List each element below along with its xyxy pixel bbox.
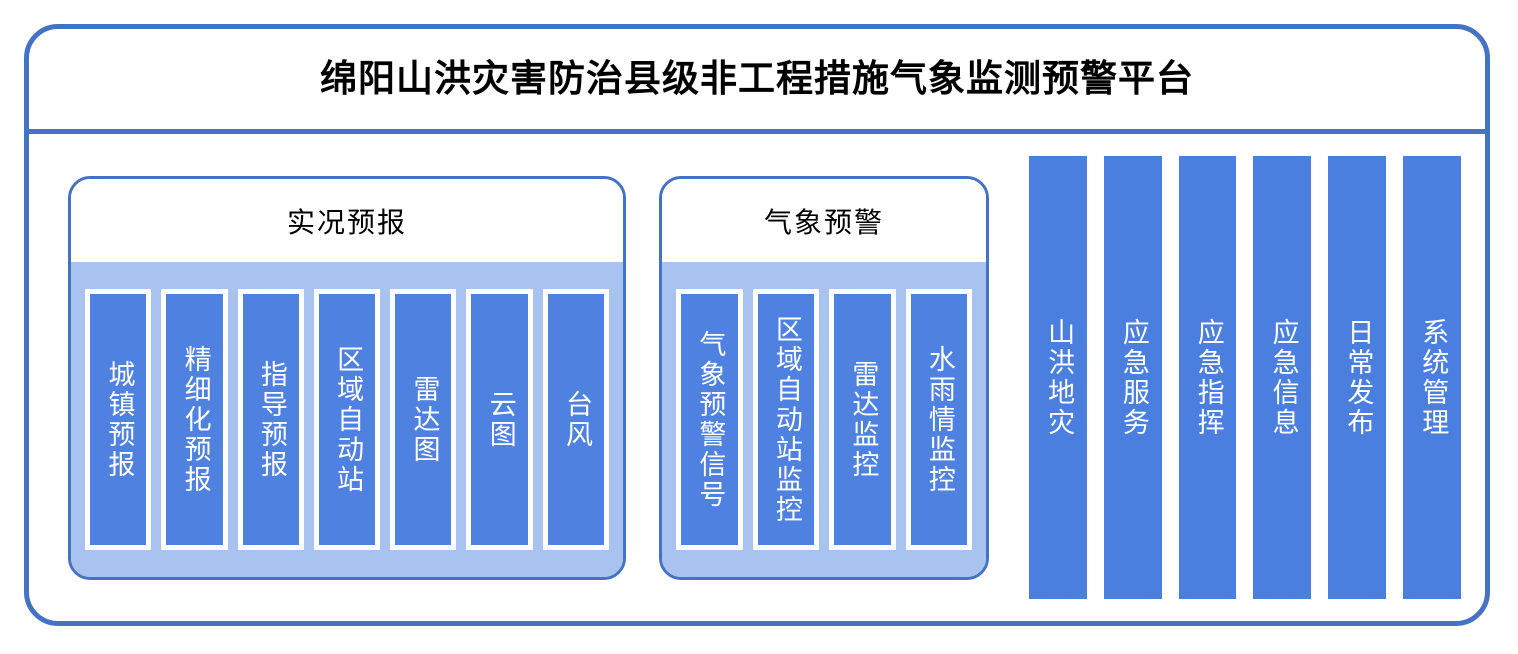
page-title: 绵阳山洪灾害防治县级非工程措施气象监测预警平台 bbox=[320, 59, 1194, 100]
module-item-taifeng[interactable]: 台风 bbox=[543, 289, 609, 550]
module-group-weather-warning[interactable]: 气象预警 气象预警信号 区域自动站监控 雷达监控 水雨情监控 bbox=[659, 176, 989, 580]
module-item-label: 台风 bbox=[562, 390, 590, 450]
platform-frame: 绵阳山洪灾害防治县级非工程措施气象监测预警平台 实况预报 城镇预报 精细化预报 … bbox=[24, 24, 1490, 626]
group-title-live-forecast: 实况预报 bbox=[287, 201, 407, 241]
module-yingji-zhihui[interactable]: 应急指挥 bbox=[1179, 156, 1237, 599]
module-item-leida-jiankong[interactable]: 雷达监控 bbox=[829, 289, 896, 550]
module-item-label: 水雨情监控 bbox=[925, 345, 953, 495]
module-item-label: 精细化预报 bbox=[180, 345, 208, 495]
module-item-zhidao-yubao[interactable]: 指导预报 bbox=[238, 289, 304, 550]
module-item-chengzhen-yubao[interactable]: 城镇预报 bbox=[85, 289, 151, 550]
module-item-label: 区域自动站监控 bbox=[772, 315, 800, 525]
module-shanhong-dizai[interactable]: 山洪地灾 bbox=[1029, 156, 1087, 599]
module-label: 应急指挥 bbox=[1193, 318, 1221, 438]
module-label: 山洪地灾 bbox=[1044, 318, 1072, 438]
module-item-qixiang-yujing-xinhao[interactable]: 气象预警信号 bbox=[676, 289, 743, 550]
standalone-module-column: 山洪地灾 应急服务 应急指挥 应急信息 日常发布 系统管理 bbox=[1029, 156, 1461, 599]
module-label: 系统管理 bbox=[1418, 318, 1446, 438]
module-item-label: 云图 bbox=[485, 390, 513, 450]
module-item-leidatu[interactable]: 雷达图 bbox=[390, 289, 456, 550]
module-item-shuiyuqing-jiankong[interactable]: 水雨情监控 bbox=[906, 289, 973, 550]
group-header-live-forecast: 实况预报 bbox=[71, 179, 623, 262]
module-group-live-forecast[interactable]: 实况预报 城镇预报 精细化预报 指导预报 区域自动站 雷达图 bbox=[68, 176, 626, 580]
module-item-label: 指导预报 bbox=[257, 360, 285, 480]
group-header-weather-warning: 气象预警 bbox=[662, 179, 986, 262]
module-label: 日常发布 bbox=[1343, 318, 1371, 438]
module-item-jingxihua-yubao[interactable]: 精细化预报 bbox=[161, 289, 227, 550]
group-body-weather-warning: 气象预警信号 区域自动站监控 雷达监控 水雨情监控 bbox=[662, 262, 986, 577]
module-item-label: 区域自动站 bbox=[333, 345, 361, 495]
module-item-label: 雷达监控 bbox=[848, 360, 876, 480]
module-item-yuntu[interactable]: 云图 bbox=[466, 289, 532, 550]
group-title-weather-warning: 气象预警 bbox=[764, 201, 884, 241]
platform-title-bar: 绵阳山洪灾害防治县级非工程措施气象监测预警平台 bbox=[29, 29, 1485, 134]
module-xitong-guanli[interactable]: 系统管理 bbox=[1403, 156, 1461, 599]
module-item-label: 气象预警信号 bbox=[695, 330, 723, 510]
module-label: 应急信息 bbox=[1268, 318, 1296, 438]
module-item-quyu-zidongzhan-jiankong[interactable]: 区域自动站监控 bbox=[753, 289, 820, 550]
module-item-label: 城镇预报 bbox=[104, 360, 132, 480]
module-yingji-xinxi[interactable]: 应急信息 bbox=[1253, 156, 1311, 599]
module-item-quyu-zidongzhan[interactable]: 区域自动站 bbox=[314, 289, 380, 550]
group-body-live-forecast: 城镇预报 精细化预报 指导预报 区域自动站 雷达图 云图 台风 bbox=[71, 262, 623, 577]
module-label: 应急服务 bbox=[1119, 318, 1147, 438]
platform-content: 实况预报 城镇预报 精细化预报 指导预报 区域自动站 雷达图 bbox=[29, 134, 1485, 621]
module-item-label: 雷达图 bbox=[409, 375, 437, 465]
module-richang-fabu[interactable]: 日常发布 bbox=[1328, 156, 1386, 599]
module-yingji-fuwu[interactable]: 应急服务 bbox=[1104, 156, 1162, 599]
